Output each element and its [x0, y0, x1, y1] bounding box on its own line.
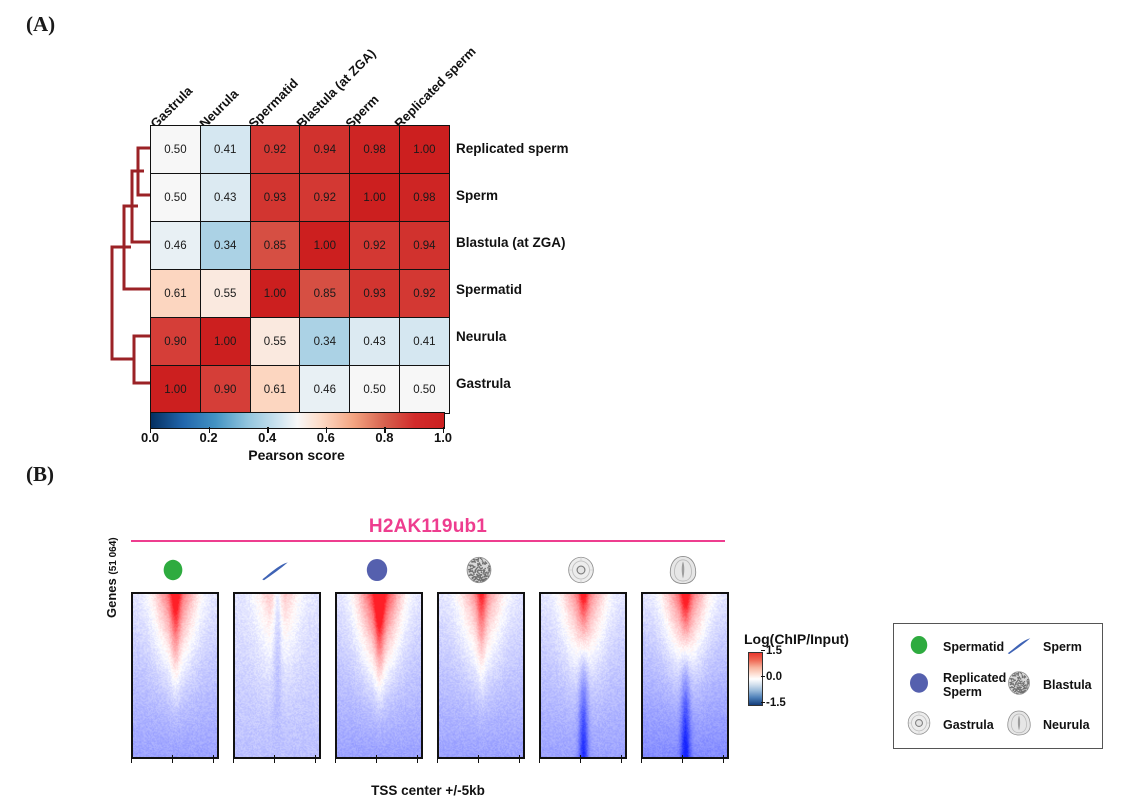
table-row: 0.500.410.920.940.981.00: [151, 126, 450, 174]
mark-title: H2AK119ub1: [131, 516, 725, 538]
blue-dot-icon: [335, 552, 419, 588]
heatmap-cell: 0.94: [300, 126, 350, 174]
pearson-colorbar-ticks: [150, 427, 443, 433]
row-label: Blastula (at ZGA): [456, 235, 566, 250]
legend-item-label: Spermatid: [943, 640, 1004, 654]
profile-axis-tick-group: [131, 755, 215, 763]
heatmap-cell: 0.90: [151, 318, 201, 366]
colorbar-tick-label: 1.0: [434, 430, 452, 445]
row-label: Replicated sperm: [456, 141, 569, 156]
colorbar-tick-label: 0.2: [200, 430, 218, 445]
legend-item-label: Neurula: [1043, 718, 1090, 732]
heatmap-cell: 0.55: [200, 270, 250, 318]
panel-a-letter: (A): [26, 12, 55, 37]
heatmap-cell: 0.85: [250, 222, 300, 270]
colorbar-tick-label: 0.0: [141, 430, 159, 445]
heatmap-cell: 0.43: [200, 174, 250, 222]
heatmap-cell: 1.00: [399, 126, 449, 174]
heatmap-cell: 0.50: [151, 174, 201, 222]
heatmap-cell: 0.61: [250, 366, 300, 414]
blue-dot-icon: [904, 668, 938, 702]
column-header: Replicated sperm: [391, 44, 478, 131]
column-header: Spermatid: [245, 75, 301, 131]
legend-item-sperm: Sperm: [1004, 630, 1100, 664]
profile-heatmap-canvas: [541, 594, 625, 757]
profile-heatmap-gastrula: [539, 592, 627, 759]
profile-axis-tick-group: [437, 755, 521, 763]
legend-item-label: Gastrula: [943, 718, 994, 732]
heatmap-cell: 0.92: [399, 270, 449, 318]
heatmap-cell: 1.00: [151, 366, 201, 414]
table-row: 0.901.000.550.340.430.41: [151, 318, 450, 366]
legend-item-spermatid: Spermatid: [904, 630, 1000, 664]
heatmap-cell: 0.93: [350, 270, 400, 318]
profile-axis-tick-group: [233, 755, 317, 763]
profile-heatmap-canvas: [235, 594, 319, 757]
heatmap-cell: 0.85: [300, 270, 350, 318]
neurula-icon: [1004, 708, 1038, 742]
table-row: 0.460.340.851.000.920.94: [151, 222, 450, 270]
heatmap-cell: 0.98: [350, 126, 400, 174]
profile-axis-tick-group: [641, 755, 725, 763]
dendrogram: [110, 125, 152, 407]
heatmap-cell: 0.55: [250, 318, 300, 366]
colorbar-tick-label: 0.6: [317, 430, 335, 445]
mark-title-rule: [131, 540, 725, 542]
correlation-table: 0.500.410.920.940.981.000.500.430.930.92…: [150, 125, 450, 414]
blastula-icon: [1004, 668, 1038, 702]
heatmap-cell: 0.94: [399, 222, 449, 270]
heatmap-cell: 1.00: [200, 318, 250, 366]
heatmap-cell: 1.00: [300, 222, 350, 270]
table-row: 1.000.900.610.460.500.50: [151, 366, 450, 414]
log-colorbar-tick-label: 0.0: [761, 671, 782, 683]
panel-b-letter: (B): [26, 462, 54, 487]
column-header: Blastula (at ZGA): [294, 46, 379, 131]
profile-heatmap-neurula: [641, 592, 729, 759]
heatmap-cell: 0.92: [350, 222, 400, 270]
profile-heatmap-canvas: [337, 594, 421, 757]
legend-item-label: Replicated Sperm: [943, 671, 1006, 699]
heatmap-cell: 0.43: [350, 318, 400, 366]
profile-heatmap-sperm: [233, 592, 321, 759]
heatmap-cell: 0.90: [200, 366, 250, 414]
legend-item-neurula: Neurula: [1004, 708, 1100, 742]
heatmap-cell: 0.50: [399, 366, 449, 414]
heatmap-cell: 0.92: [250, 126, 300, 174]
heatmap-cell: 0.41: [200, 126, 250, 174]
green-dot-icon: [131, 552, 215, 588]
log-colorbar-tick-label: 1.5: [761, 645, 782, 657]
profile-heatmap-spermatid: [131, 592, 219, 759]
heatmap-cell: 1.00: [350, 174, 400, 222]
row-label: Sperm: [456, 188, 498, 203]
log-colorbar-tick-label: -1.5: [761, 697, 786, 709]
heatmap-cell: 0.46: [300, 366, 350, 414]
column-header: Gastrula: [147, 83, 195, 131]
profile-heatmap-canvas: [643, 594, 727, 757]
heatmap-cell: 0.50: [151, 126, 201, 174]
log-colorbar-label: Log(ChIP/Input): [744, 631, 849, 647]
row-label: Spermatid: [456, 282, 522, 297]
profile-axis-tick-group: [539, 755, 623, 763]
heatmap-cell: 1.00: [250, 270, 300, 318]
green-dot-icon: [904, 630, 938, 664]
heatmap-cell: 0.46: [151, 222, 201, 270]
genes-axis-label: Genes (51 064): [104, 537, 119, 618]
genes-axis-title: Genes: [104, 578, 119, 618]
profile-heatmap-blastula: [437, 592, 525, 759]
blue-crescent-icon: [233, 552, 317, 588]
legend-item-gastrula: Gastrula: [904, 708, 1000, 742]
neurula-icon: [641, 552, 725, 588]
heatmap-cell: 0.98: [399, 174, 449, 222]
table-row: 0.610.551.000.850.930.92: [151, 270, 450, 318]
heatmap-cell: 0.61: [151, 270, 201, 318]
profile-heatmap-canvas: [439, 594, 523, 757]
heatmap-cell: 0.34: [300, 318, 350, 366]
heatmap-cell: 0.92: [300, 174, 350, 222]
colorbar-tick-label: 0.8: [375, 430, 393, 445]
profile-heatmap-canvas: [133, 594, 217, 757]
legend-item-label: Sperm: [1043, 640, 1082, 654]
profile-heatmap-replicated-sperm: [335, 592, 423, 759]
table-row: 0.500.430.930.921.000.98: [151, 174, 450, 222]
gastrula-icon: [539, 552, 623, 588]
tss-axis-label: TSS center +/-5kb: [131, 783, 725, 798]
row-label: Neurula: [456, 329, 506, 344]
gastrula-icon: [904, 708, 938, 742]
legend-item-label: Blastula: [1043, 678, 1092, 692]
genes-axis-count: (51 064): [108, 537, 119, 574]
profile-axis-tick-group: [335, 755, 419, 763]
heatmap-cell: 0.93: [250, 174, 300, 222]
blue-crescent-icon: [1004, 630, 1038, 664]
row-label: Gastrula: [456, 376, 511, 391]
heatmap-cell: 0.41: [399, 318, 449, 366]
blastula-icon: [437, 552, 521, 588]
correlation-heatmap: 0.500.410.920.940.981.000.500.430.930.92…: [150, 125, 450, 414]
pearson-colorbar-label: Pearson score: [150, 447, 443, 463]
heatmap-cell: 0.34: [200, 222, 250, 270]
legend-item-replicated-sperm: Replicated Sperm: [904, 668, 1000, 702]
legend-item-blastula: Blastula: [1004, 668, 1100, 702]
stage-legend: SpermatidSpermReplicated SpermBlastulaGa…: [893, 623, 1103, 749]
heatmap-cell: 0.50: [350, 366, 400, 414]
colorbar-tick-label: 0.4: [258, 430, 276, 445]
